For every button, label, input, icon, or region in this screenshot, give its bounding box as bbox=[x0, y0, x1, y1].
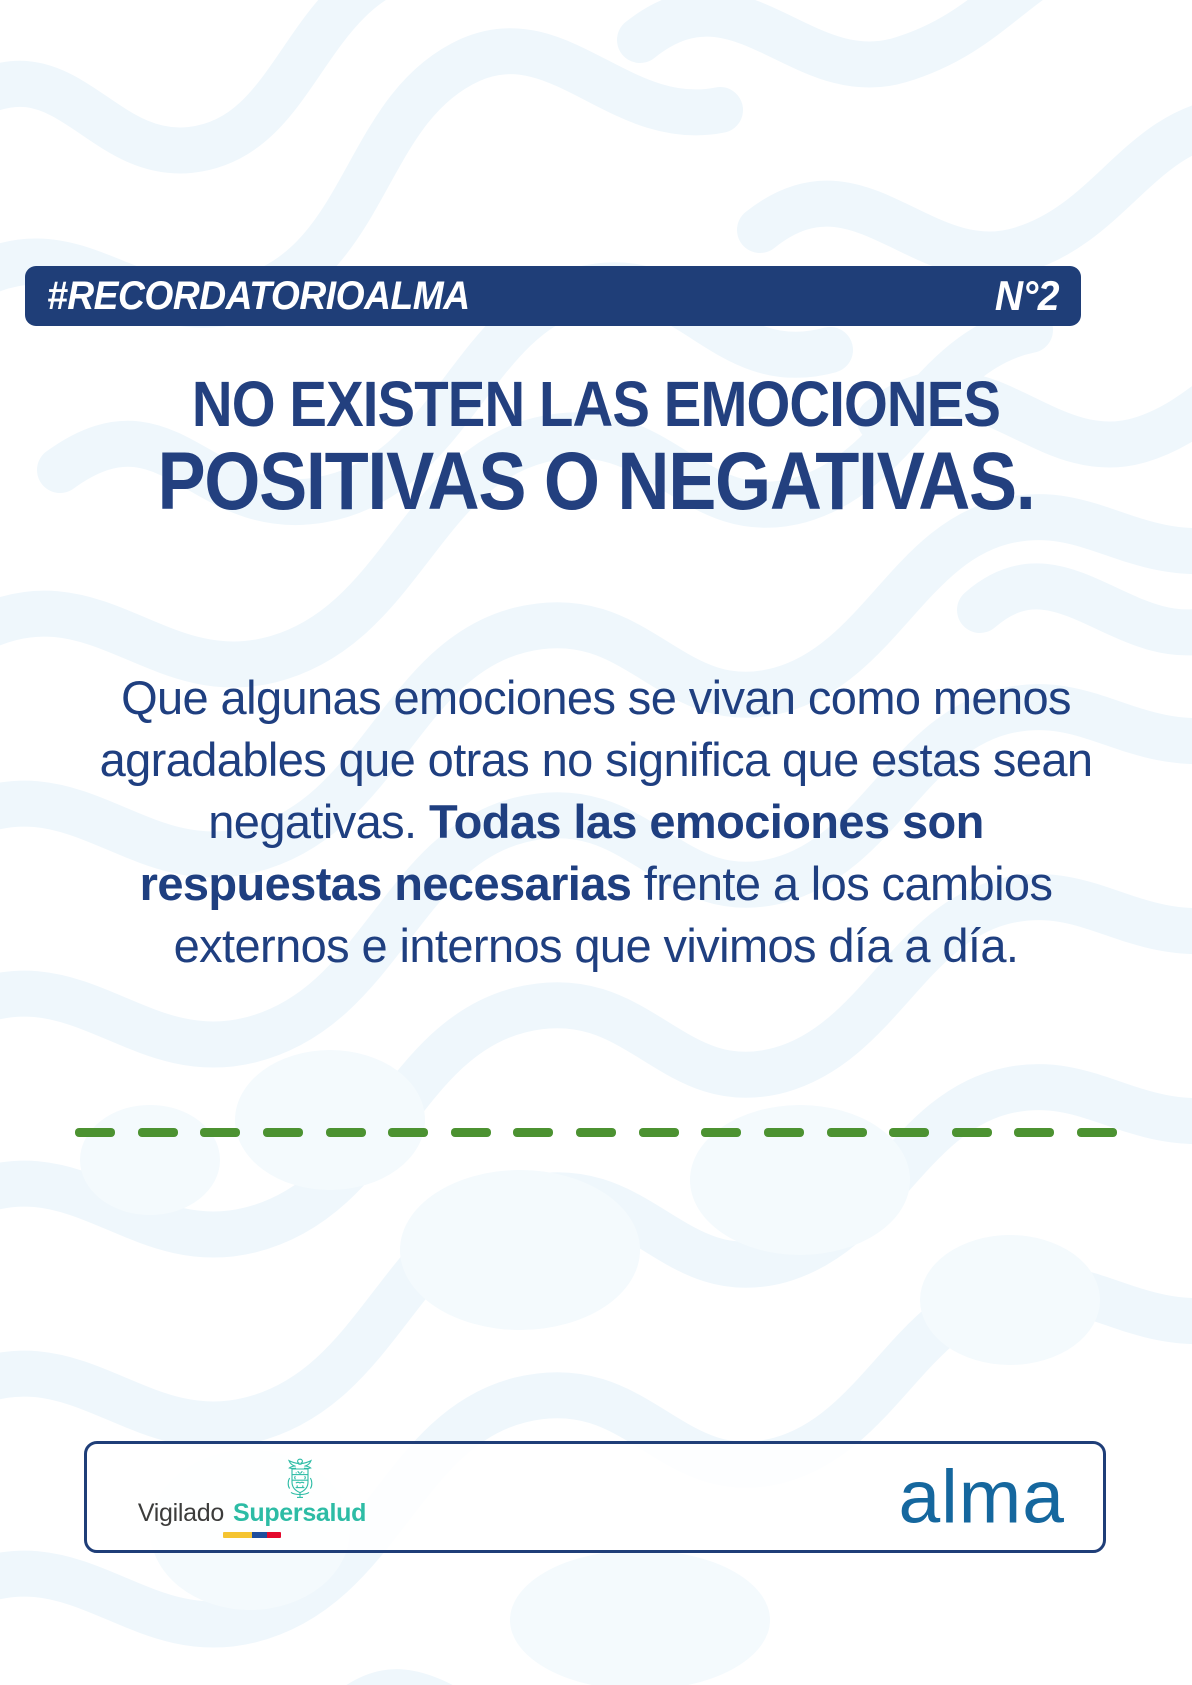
vigilado-row: Vigilado bbox=[138, 1456, 366, 1526]
colombia-flag-stripes-icon bbox=[223, 1532, 281, 1538]
divider-dash bbox=[576, 1128, 616, 1137]
divider-dash bbox=[326, 1128, 366, 1137]
flag-stripe-red bbox=[267, 1532, 282, 1538]
banner-number: N°2 bbox=[995, 275, 1059, 317]
divider-dash bbox=[764, 1128, 804, 1137]
dashed-divider bbox=[75, 1128, 1117, 1137]
supersalud-col: Supersalud bbox=[233, 1456, 366, 1526]
divider-dash bbox=[138, 1128, 178, 1137]
divider-dash bbox=[388, 1128, 428, 1137]
flag-stripe-blue bbox=[252, 1532, 267, 1538]
divider-dash bbox=[263, 1128, 303, 1137]
flag-stripe-yellow bbox=[223, 1532, 252, 1538]
poster-canvas: #RECORDATORIOALMA N°2 NO EXISTEN LAS EMO… bbox=[0, 0, 1192, 1685]
divider-dash bbox=[827, 1128, 867, 1137]
divider-dash bbox=[889, 1128, 929, 1137]
divider-dash bbox=[639, 1128, 679, 1137]
headline-line-2: POSITIVAS O NEGATIVAS. bbox=[72, 438, 1121, 527]
divider-dash bbox=[200, 1128, 240, 1137]
vigilado-label: Vigilado bbox=[138, 1501, 224, 1526]
banner-hashtag: #RECORDATORIOALMA bbox=[47, 276, 470, 316]
colombia-coat-of-arms-icon bbox=[283, 1456, 317, 1500]
alma-logo: alma bbox=[898, 1460, 1065, 1535]
divider-dash bbox=[952, 1128, 992, 1137]
vigilado-supersalud-lockup: Vigilado bbox=[107, 1456, 397, 1538]
divider-dash bbox=[1014, 1128, 1054, 1137]
page-title: NO EXISTEN LAS EMOCIONES POSITIVAS O NEG… bbox=[0, 372, 1192, 527]
supersalud-label: Supersalud bbox=[233, 1501, 366, 1526]
divider-dash bbox=[701, 1128, 741, 1137]
footer-bar: Vigilado bbox=[84, 1441, 1106, 1553]
divider-dash bbox=[513, 1128, 553, 1137]
divider-dash bbox=[75, 1128, 115, 1137]
recordatorio-banner: #RECORDATORIOALMA N°2 bbox=[25, 266, 1081, 326]
headline-line-1: NO EXISTEN LAS EMOCIONES bbox=[72, 372, 1121, 436]
body-paragraph: Que algunas emociones se vivan como meno… bbox=[96, 667, 1096, 977]
divider-dash bbox=[1077, 1128, 1117, 1137]
divider-dash bbox=[451, 1128, 491, 1137]
